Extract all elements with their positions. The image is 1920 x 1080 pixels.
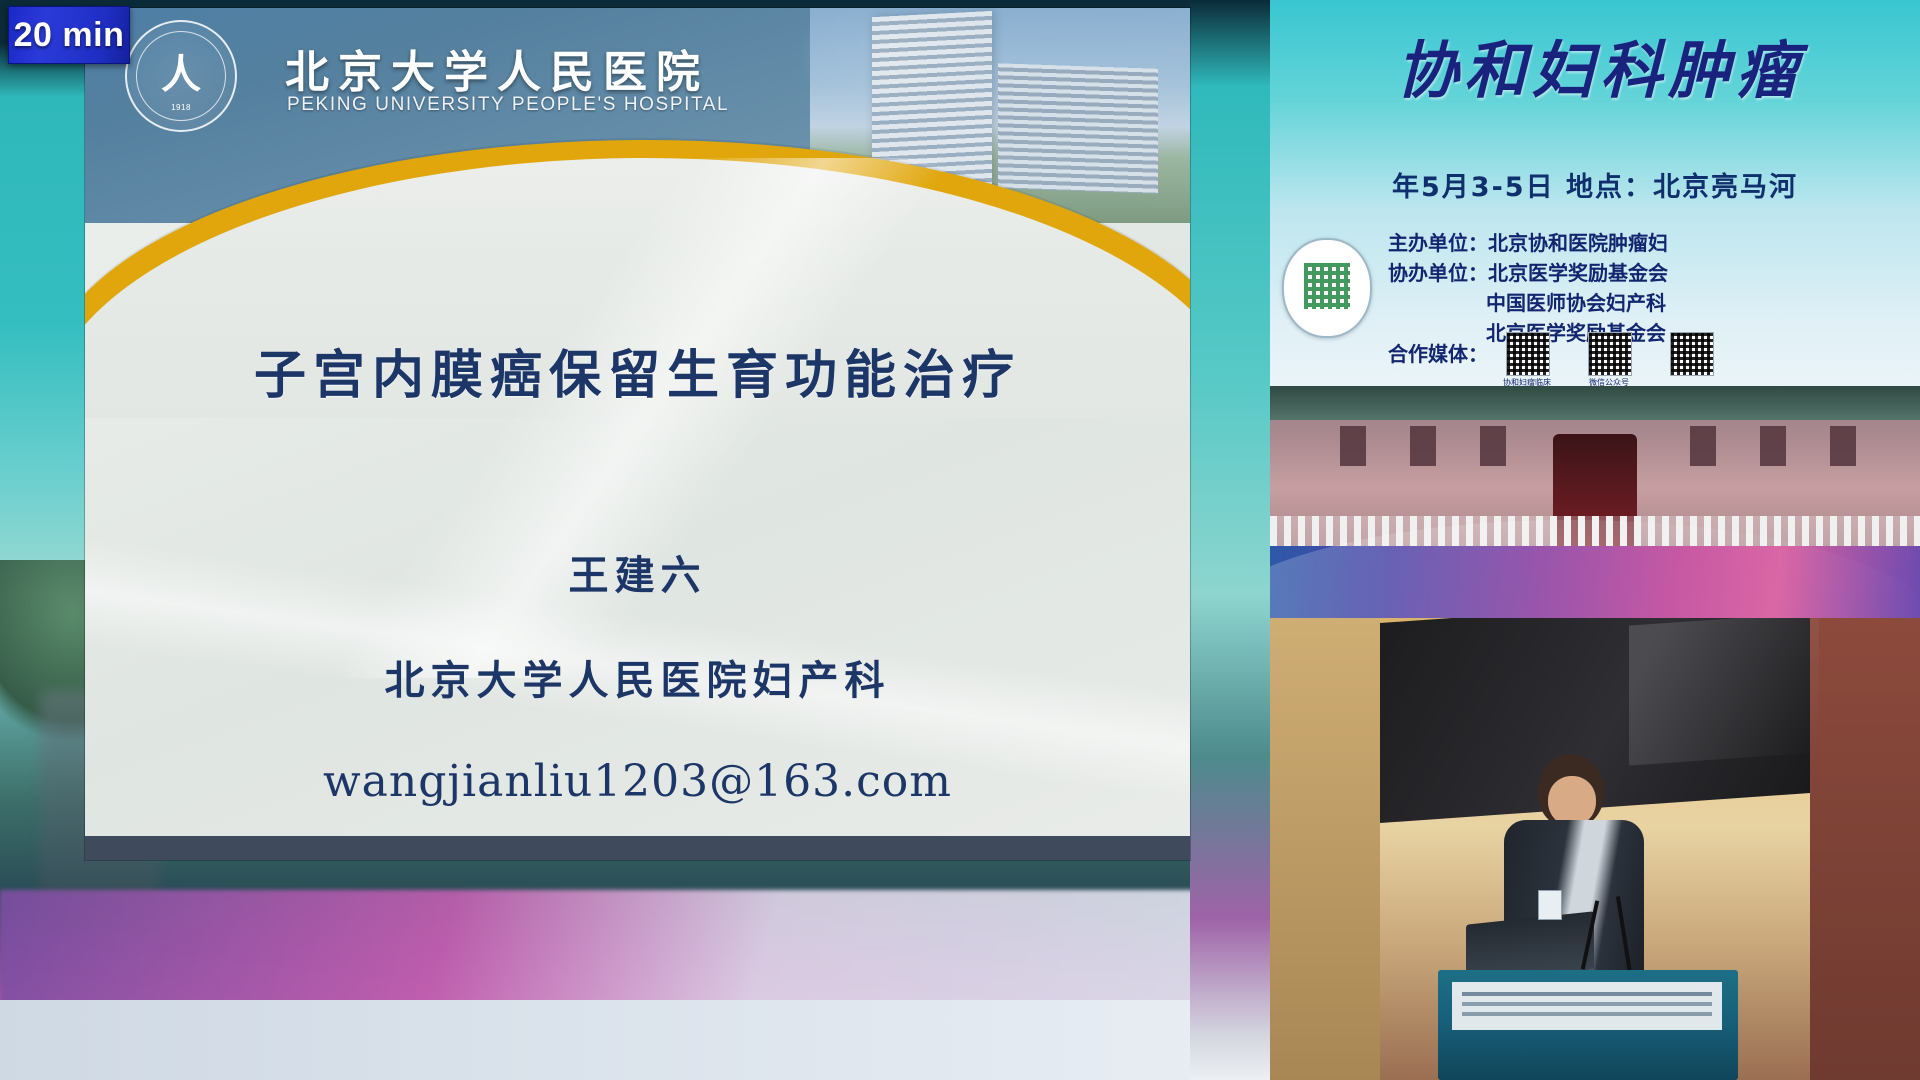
building-roofline bbox=[1270, 386, 1920, 420]
qr-code-icon-1 bbox=[1506, 332, 1550, 376]
organizer-co-line: 协办单位：北京医学奖励基金会 bbox=[1388, 258, 1920, 288]
background-right-strip bbox=[1190, 0, 1270, 1080]
hall-wall-left bbox=[1270, 618, 1380, 1080]
organizer-co-value-2: 中国医师协会妇产科 bbox=[1388, 288, 1920, 318]
lectern bbox=[1438, 970, 1738, 1080]
organizer-co-value-1: 北京医学奖励基金会 bbox=[1488, 261, 1668, 285]
seal-year: 1918 bbox=[127, 103, 235, 112]
hospital-name-cn: 北京大学人民医院 bbox=[285, 36, 709, 100]
speaker-face bbox=[1548, 776, 1596, 826]
organizer-main-value: 北京协和医院肿瘤妇 bbox=[1488, 231, 1668, 255]
presentation-slide[interactable]: 人 1918 北京大学人民医院 PEKING UNIVERSITY PEOPLE… bbox=[85, 8, 1190, 860]
organizer-main-label: 主办单位： bbox=[1388, 228, 1488, 258]
poster-organizers: 主办单位：北京协和医院肿瘤妇 协办单位：北京医学奖励基金会 中国医师协会妇产科 … bbox=[1388, 228, 1920, 348]
lectern-signage bbox=[1452, 982, 1722, 1030]
building-window bbox=[1760, 426, 1786, 466]
seal-cross-pattern bbox=[1304, 263, 1350, 309]
screen-glare bbox=[1629, 618, 1818, 766]
background-floor-band bbox=[0, 1000, 1270, 1080]
poster-footer-gradient bbox=[1270, 546, 1920, 618]
speaker-video-panel[interactable] bbox=[1270, 618, 1920, 1080]
slide-author: 王建六 bbox=[85, 543, 1190, 601]
screen-capture: 人 1918 北京大学人民医院 PEKING UNIVERSITY PEOPLE… bbox=[0, 0, 1920, 1080]
conference-seal-icon bbox=[1282, 238, 1372, 338]
poster-title: 协和妇科肿瘤 bbox=[1270, 20, 1920, 110]
slide-bottom-bar bbox=[85, 836, 1190, 860]
poster-media-label: 合作媒体： bbox=[1388, 338, 1488, 367]
hospital-seal-icon: 人 1918 bbox=[125, 20, 237, 132]
organizer-co-label: 协办单位： bbox=[1388, 258, 1488, 288]
speaker-name-badge bbox=[1538, 890, 1562, 920]
qr-code-icon-2 bbox=[1588, 332, 1632, 376]
organizer-main-line: 主办单位：北京协和医院肿瘤妇 bbox=[1388, 228, 1920, 258]
timer-label: 20 min bbox=[14, 16, 125, 55]
right-video-column: 协和妇科肿瘤 年5月3-5日 地点：北京亮马河 主办单位：北京协和医院肿瘤妇 协… bbox=[1270, 0, 1920, 1080]
timer-badge[interactable]: 20 min bbox=[8, 6, 130, 64]
building-window bbox=[1830, 426, 1856, 466]
building-window bbox=[1690, 426, 1716, 466]
building-window bbox=[1410, 426, 1436, 466]
slide-body: 子宫内膜癌保留生育功能治疗 王建六 北京大学人民医院妇产科 wangjianli… bbox=[85, 223, 1190, 860]
slide-email: wangjianliu1203@163.com bbox=[85, 756, 1190, 807]
building-window bbox=[1340, 426, 1366, 466]
building-window bbox=[1480, 426, 1506, 466]
slide-affiliation: 北京大学人民医院妇产科 bbox=[85, 648, 1190, 706]
hospital-name-en: PEKING UNIVERSITY PEOPLE'S HOSPITAL bbox=[287, 94, 729, 116]
background-stage-band bbox=[0, 890, 1270, 1010]
conference-poster-panel: 协和妇科肿瘤 年5月3-5日 地点：北京亮马河 主办单位：北京协和医院肿瘤妇 协… bbox=[1270, 0, 1920, 618]
slide-title: 子宫内膜癌保留生育功能治疗 bbox=[85, 333, 1190, 408]
qr-code-icon-3 bbox=[1670, 332, 1714, 376]
seal-mark: 人 bbox=[161, 55, 201, 95]
hall-wall-right bbox=[1810, 618, 1920, 1080]
poster-date-venue: 年5月3-5日 地点：北京亮马河 bbox=[1270, 165, 1920, 204]
